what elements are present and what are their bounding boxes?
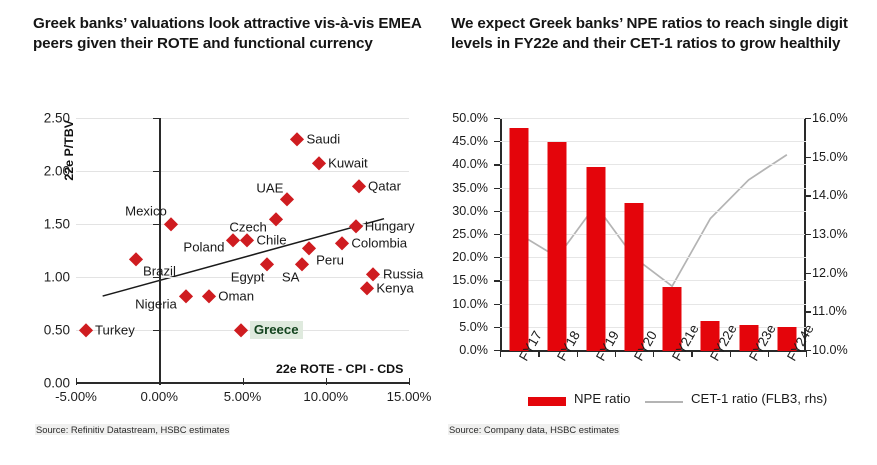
primary-y-tick xyxy=(494,118,500,119)
primary-y-tick xyxy=(494,164,500,165)
scatter-point-label: Chile xyxy=(256,232,286,247)
scatter-point-label: Mexico xyxy=(125,204,167,219)
bar-plot-area xyxy=(500,118,806,351)
left-chart-panel: Greek banks’ valuations look attractive … xyxy=(0,0,440,465)
primary-y-tick-label: 30.0% xyxy=(452,204,488,218)
gridline xyxy=(500,141,806,142)
secondary-y-tick xyxy=(805,118,811,119)
scatter-point-label: Egypt xyxy=(231,270,265,285)
gridline xyxy=(500,327,806,328)
x-tick-label: 0.00% xyxy=(141,389,178,404)
scatter-point-label: Colombia xyxy=(351,236,407,251)
secondary-y-tick-label: 15.0% xyxy=(812,150,848,164)
scatter-point-label: Kenya xyxy=(376,280,413,295)
x-axis-tick xyxy=(326,378,327,385)
primary-y-tick-label: 35.0% xyxy=(452,181,488,195)
gridline xyxy=(76,171,409,172)
primary-y-tick xyxy=(494,280,500,281)
y-axis-tick xyxy=(153,330,160,331)
y-tick-label: 1.00 xyxy=(44,270,70,285)
secondary-y-tick-label: 12.0% xyxy=(812,266,848,280)
bar-npe-ratio xyxy=(624,203,643,351)
gridline xyxy=(76,118,409,119)
legend-line-swatch-icon xyxy=(645,401,683,403)
secondary-y-tick xyxy=(805,195,811,196)
secondary-y-tick xyxy=(805,234,811,235)
scatter-point-label: SA xyxy=(282,270,300,285)
gridline xyxy=(500,164,806,165)
y-axis-tick xyxy=(153,224,160,225)
secondary-y-tick-label: 11.0% xyxy=(812,304,847,318)
x-tick-label: 10.00% xyxy=(303,389,348,404)
scatter-point-label: Hungary xyxy=(365,219,415,234)
primary-y-tick xyxy=(494,327,500,328)
y-axis-line xyxy=(159,118,161,383)
y-axis-tick xyxy=(153,383,160,384)
secondary-y-tick xyxy=(805,311,811,312)
scatter-point-label: Nigeria xyxy=(135,297,177,312)
scatter-point-label: Qatar xyxy=(368,178,401,193)
left-source-note: Source: Refinitiv Datastream, HSBC estim… xyxy=(35,424,230,435)
primary-y-tick xyxy=(494,304,500,305)
scatter-point-label: Russia xyxy=(383,266,423,281)
right-chart-legend: NPE ratioCET-1 ratio (FLB3, rhs) xyxy=(440,390,877,412)
x-tick-label: 5.00% xyxy=(224,389,261,404)
scatter-point-label: Peru xyxy=(316,253,344,268)
primary-y-tick xyxy=(494,188,500,189)
scatter-point-label: Turkey xyxy=(95,323,135,338)
secondary-y-tick-label: 13.0% xyxy=(812,227,848,241)
primary-y-tick-label: 20.0% xyxy=(452,250,488,264)
right-source-note: Source: Company data, HSBC estimates xyxy=(448,424,620,435)
gridline xyxy=(500,188,806,189)
x-axis-tick xyxy=(409,378,410,385)
scatter-point-label: UAE xyxy=(256,180,283,195)
y-tick-label: 1.50 xyxy=(44,217,70,232)
x-axis-tick xyxy=(76,378,77,385)
bar-npe-ratio xyxy=(548,142,567,351)
primary-y-tick xyxy=(494,141,500,142)
gridline xyxy=(500,211,806,212)
left-y-axis-title: 22e P/TBV xyxy=(62,120,76,181)
right-secondary-y-tick-labels: 10.0%11.0%12.0%13.0%14.0%15.0%16.0% xyxy=(812,118,868,352)
secondary-y-tick xyxy=(805,157,811,158)
scatter-point-label: Kuwait xyxy=(328,155,368,170)
primary-y-tick-label: 50.0% xyxy=(452,111,488,125)
x-axis-tick xyxy=(243,378,244,385)
primary-y-tick-label: 45.0% xyxy=(452,134,488,148)
primary-y-tick-label: 5.0% xyxy=(459,320,488,334)
scatter-point-label: Brazil xyxy=(143,263,176,278)
secondary-y-tick-label: 16.0% xyxy=(812,111,848,125)
left-chart-title: Greek banks’ valuations look attractive … xyxy=(33,14,423,53)
secondary-y-tick xyxy=(805,273,811,274)
gridline xyxy=(500,257,806,258)
y-axis-tick xyxy=(153,171,160,172)
primary-y-tick xyxy=(494,257,500,258)
legend-label: CET-1 ratio (FLB3, rhs) xyxy=(691,391,827,406)
gridline xyxy=(500,234,806,235)
right-primary-y-tick-labels: 0.0%5.0%10.0%15.0%20.0%25.0%30.0%35.0%40… xyxy=(440,118,492,352)
primary-y-tick-label: 10.0% xyxy=(452,297,488,311)
bar-npe-ratio xyxy=(510,128,529,351)
secondary-y-tick-label: 14.0% xyxy=(812,188,848,202)
scatter-point-label: Saudi xyxy=(306,132,340,147)
scatter-point-label: Oman xyxy=(218,289,254,304)
legend-label: NPE ratio xyxy=(574,391,630,406)
primary-y-tick-label: 15.0% xyxy=(452,273,488,287)
bar-npe-ratio xyxy=(586,167,605,351)
left-x-tick-labels: -5.00%0.00%5.00%10.00%15.00% xyxy=(76,389,416,409)
scatter-point-label: Czech xyxy=(229,219,266,234)
x-tick-label: 15.00% xyxy=(387,389,432,404)
primary-y-tick-label: 40.0% xyxy=(452,157,488,171)
primary-y-tick-label: 25.0% xyxy=(452,227,488,241)
scatter-point-label: Greece xyxy=(250,321,303,339)
gridline xyxy=(500,118,806,119)
legend-bar-swatch-icon xyxy=(528,397,566,406)
gridline xyxy=(500,280,806,281)
scatter-plot-area: TurkeyBrazilMexicoNigeriaOmanPolandGreec… xyxy=(76,118,409,383)
primary-y-tick xyxy=(494,211,500,212)
gridline xyxy=(500,304,806,305)
right-chart-title: We expect Greek banks’ NPE ratios to rea… xyxy=(451,14,861,53)
primary-y-tick xyxy=(494,234,500,235)
y-axis-tick xyxy=(153,118,160,119)
scatter-point-label: Poland xyxy=(183,239,224,254)
x-tick-label: -5.00% xyxy=(55,389,97,404)
y-tick-label: 0.50 xyxy=(44,323,70,338)
